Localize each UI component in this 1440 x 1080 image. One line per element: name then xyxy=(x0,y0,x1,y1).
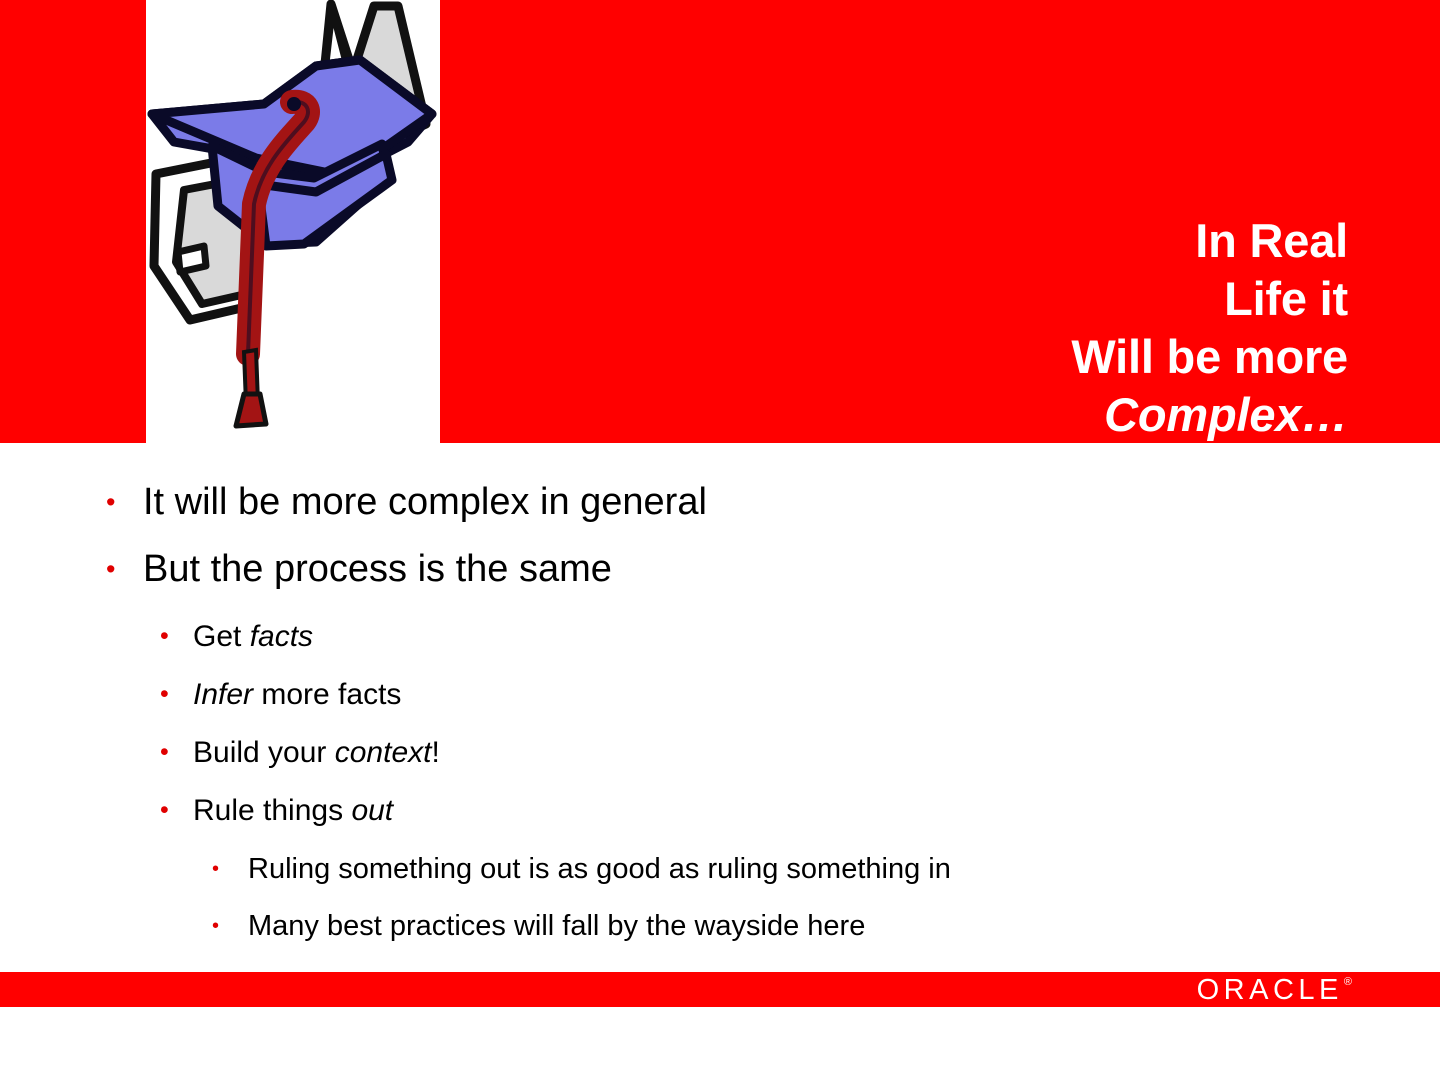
graduation-cap-image xyxy=(146,0,440,443)
title-line-1: In Real xyxy=(648,212,1348,270)
bullet-item: • Ruling something out is as good as rul… xyxy=(212,853,951,886)
bullet-marker: • xyxy=(160,798,193,823)
bullet-marker: • xyxy=(160,624,193,649)
bullet-item: • Build your context! xyxy=(160,736,440,770)
slide: In Real Life it Will be more Complex… • … xyxy=(0,0,1440,1080)
bullet-text: But the process is the same xyxy=(143,548,612,591)
bullet-item: • Rule things out xyxy=(160,794,393,828)
bullet-marker: • xyxy=(212,916,248,936)
slide-body: • It will be more complex in general • B… xyxy=(0,443,1440,972)
slide-title: In Real Life it Will be more Complex… xyxy=(648,212,1348,444)
bullet-text: Build your context! xyxy=(193,736,440,770)
bullet-text: Infer more facts xyxy=(193,678,401,712)
bullet-item: • Infer more facts xyxy=(160,678,401,712)
bullet-text: It will be more complex in general xyxy=(143,481,707,524)
bullet-text: Many best practices will fall by the way… xyxy=(248,910,865,943)
title-line-2: Life it xyxy=(648,270,1348,328)
title-line-3: Will be more xyxy=(648,328,1348,386)
registered-trademark-icon: ® xyxy=(1344,977,1352,988)
bullet-item: • It will be more complex in general xyxy=(106,481,707,524)
bullet-text: Ruling something out is as good as rulin… xyxy=(248,853,951,886)
bullet-text: Get facts xyxy=(193,620,313,654)
bullet-text: Rule things out xyxy=(193,794,393,828)
oracle-logo: ORACLE ® xyxy=(1197,976,1352,1003)
bullet-marker: • xyxy=(212,859,248,879)
bullet-item: • Get facts xyxy=(160,620,313,654)
bullet-item: • But the process is the same xyxy=(106,548,612,591)
bullet-marker: • xyxy=(160,740,193,765)
bullet-marker: • xyxy=(106,556,143,583)
bullet-marker: • xyxy=(106,489,143,516)
bullet-item: • Many best practices will fall by the w… xyxy=(212,910,865,943)
oracle-wordmark: ORACLE xyxy=(1197,976,1343,1005)
title-line-4: Complex… xyxy=(648,386,1348,444)
bullet-marker: • xyxy=(160,682,193,707)
graduation-cap-icon xyxy=(146,0,440,443)
